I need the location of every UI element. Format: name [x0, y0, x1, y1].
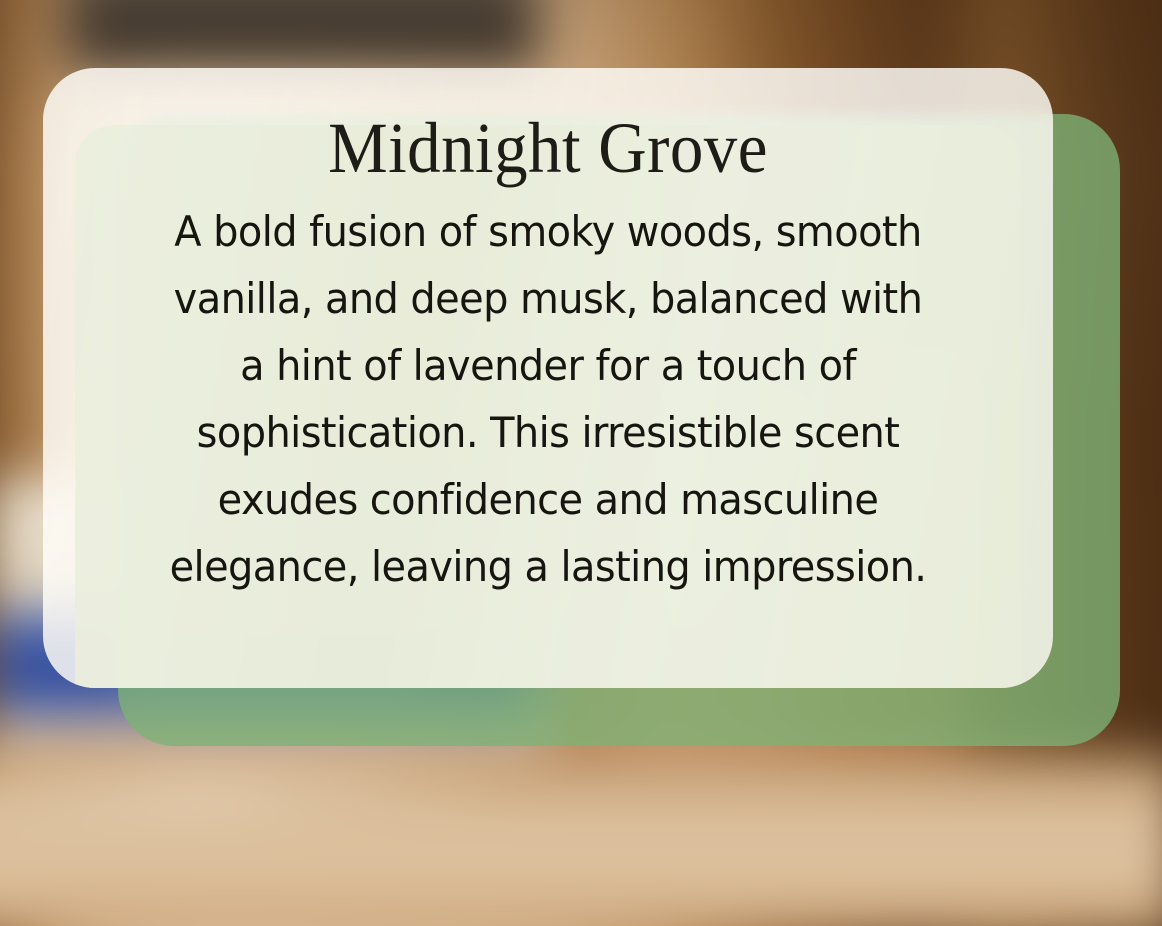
card-content: Midnight Grove A bold fusion of smoky wo… [43, 68, 1053, 688]
description-line: elegance, leaving a lasting impression. [91, 533, 1005, 600]
scent-title: Midnight Grove [101, 112, 996, 184]
scent-description-card: Midnight Grove A bold fusion of smoky wo… [43, 68, 1053, 688]
scent-description: A bold fusion of smoky woods, smooth van… [91, 198, 1005, 600]
description-line: A bold fusion of smoky woods, smooth [91, 198, 1005, 265]
scent-description-card-screen: Midnight Grove A bold fusion of smoky wo… [0, 0, 1162, 926]
description-line: sophistication. This irresistible scent [91, 399, 1005, 466]
description-line: vanilla, and deep musk, balanced with [91, 265, 1005, 332]
description-line: a hint of lavender for a touch of [91, 332, 1005, 399]
description-line: exudes confidence and masculine [91, 466, 1005, 533]
